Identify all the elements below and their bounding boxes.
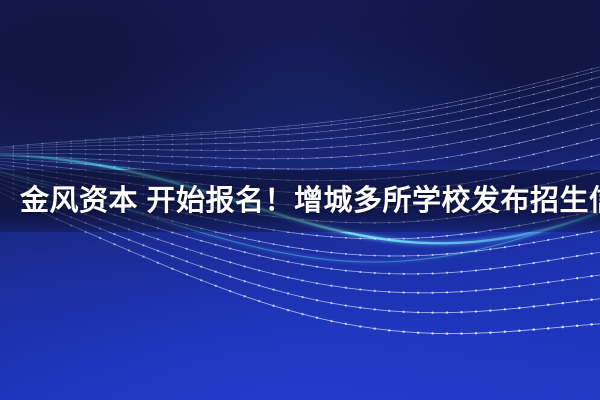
headline-container: 金风资本 开始报名！增城多所学校发布招生信息 <box>0 170 600 232</box>
headline-text: 金风资本 开始报名！增城多所学校发布招生信息 <box>20 187 600 216</box>
banner-image: 金风资本 开始报名！增城多所学校发布招生信息 <box>0 0 600 400</box>
